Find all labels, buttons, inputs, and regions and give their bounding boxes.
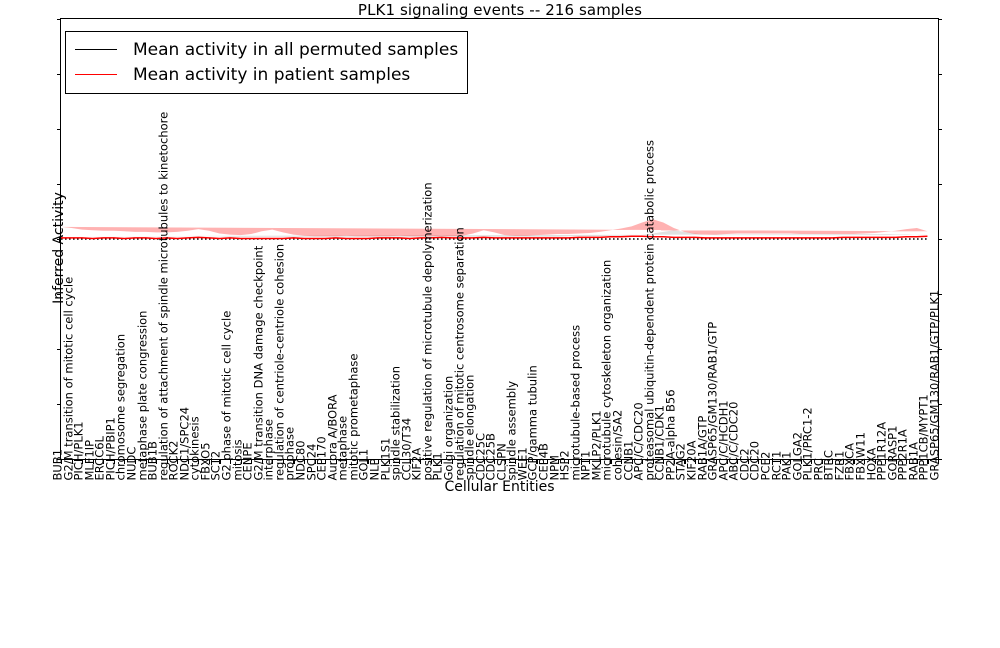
legend-entry-permuted: Mean activity in all permuted samples <box>75 37 458 62</box>
x-tick-label: positive regulation of microtubule depol… <box>423 182 435 480</box>
chart-legend: Mean activity in all permuted samples Me… <box>65 31 468 94</box>
x-axis-label: Cellular Entities <box>60 479 939 495</box>
chart-title: PLK1 signaling events -- 216 samples <box>0 1 1000 19</box>
legend-entry-patient: Mean activity in patient samples <box>75 62 458 87</box>
chart-figure: PLK1 signaling events -- 216 samples Inf… <box>0 0 1000 500</box>
x-tick-label: GRASP65/GM130/RAB1/GTP/PLK1 <box>930 289 942 480</box>
legend-label-permuted: Mean activity in all permuted samples <box>133 40 458 60</box>
x-tick-label: regulation of attachment of spindle micr… <box>158 111 170 480</box>
legend-swatch-patient <box>75 74 117 75</box>
legend-swatch-permuted <box>75 49 117 50</box>
legend-label-patient: Mean activity in patient samples <box>133 65 410 85</box>
